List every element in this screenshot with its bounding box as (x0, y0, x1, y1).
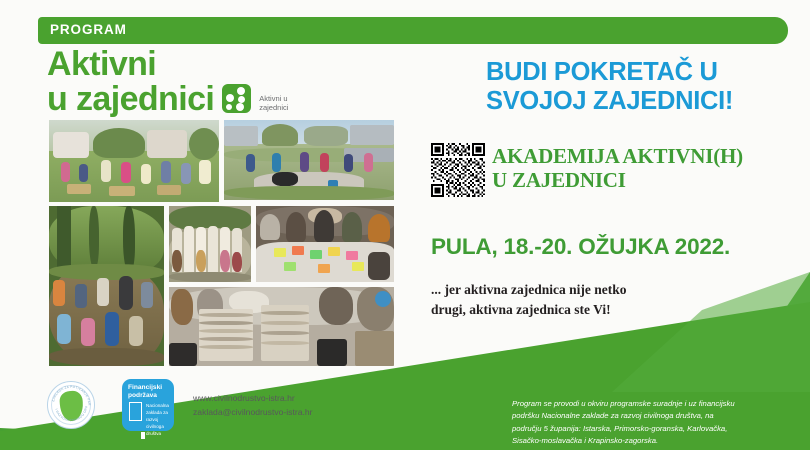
photo-forest-children (49, 206, 164, 366)
photo-outdoor-workshop (224, 120, 394, 200)
funder-body-text: Nacionalna zaklada za razvoj civilnoga d… (146, 403, 172, 437)
seal-caption-ring: ZAKLADA ZA POTICANJE PARTNERSTVA I RAZVO… (48, 382, 94, 428)
event-tagline: ... jer aktivna zajednica nije netko dru… (431, 280, 627, 321)
program-banner: PROGRAM (38, 17, 788, 44)
contact-email[interactable]: zaklada@civilnodrustvo-istra.hr (193, 405, 313, 419)
contact-website[interactable]: www.civilnodrustvo-istra.hr (193, 391, 313, 405)
badge-caption-line2: zajednici (259, 103, 288, 112)
disclaimer-line1: Program se provodi u okviru programske s… (512, 398, 802, 410)
nacionalna-zaklada-logo: Financijski podržava Nacionalna zaklada … (122, 379, 174, 431)
event-tagline-line1: ... jer aktivna zajednica nije netko (431, 280, 627, 300)
disclaimer-line2: podršku Nacionalne zaklade za razvoj civ… (512, 410, 802, 422)
program-banner-label: PROGRAM (50, 22, 127, 37)
funder-label-line1: Financijski (128, 384, 162, 391)
footer-disclaimer: Program se provodi u okviru programske s… (512, 398, 802, 448)
badge-caption: Aktivni u zajednici (259, 94, 288, 113)
brand-title-line1: Aktivni (47, 47, 288, 82)
svg-text:ZAKLADA ZA POTICANJE PARTNERST: ZAKLADA ZA POTICANJE PARTNERSTVA (48, 382, 91, 406)
photo-workshop-table (256, 206, 394, 282)
headline-line1: BUDI POKRETAČ U (486, 58, 733, 87)
photo-folk-costumes (169, 206, 251, 282)
photo-book-collection (169, 287, 394, 366)
contact-info: www.civilnodrustvo-istra.hr zaklada@civi… (193, 391, 313, 419)
academy-name: AKADEMIJA AKTIVNI(H) U ZAJEDNICI (492, 145, 743, 192)
bracket-icon (129, 402, 142, 421)
event-tagline-line2: drugi, aktivna zajednica ste Vi! (431, 300, 627, 320)
academy-name-line1: AKADEMIJA AKTIVNI(H) (492, 145, 743, 169)
main-headline: BUDI POKRETAČ U SVOJOJ ZAJEDNICI! (486, 58, 733, 115)
brand-title-line2: u zajednici (47, 82, 214, 117)
dots-badge-icon (222, 84, 251, 113)
promotional-poster: PROGRAM Aktivni u zajednici Aktivni u za… (0, 0, 810, 450)
funder-label: Financijski podržava (128, 384, 162, 400)
academy-name-line2: U ZAJEDNICI (492, 169, 743, 193)
funder-label-line2: podržava (128, 392, 157, 399)
headline-line2: SVOJOJ ZAJEDNICI! (486, 87, 733, 116)
photo-village-gathering (49, 120, 219, 202)
disclaimer-line4: Sisačko-moslavačka i Krapinsko-zagorska. (512, 435, 802, 447)
istria-civil-society-seal-logo: ZAKLADA ZA POTICANJE PARTNERSTVA I RAZVO… (47, 381, 95, 429)
brand-title-block: Aktivni u zajednici Aktivni u zajednici (47, 47, 288, 116)
badge-caption-line1: Aktivni u (259, 94, 287, 103)
disclaimer-line3: području 5 županija: Istarska, Primorsko… (512, 423, 802, 435)
qr-code-icon[interactable] (431, 143, 485, 197)
event-date-place: PULA, 18.-20. OŽUJKA 2022. (431, 234, 730, 260)
